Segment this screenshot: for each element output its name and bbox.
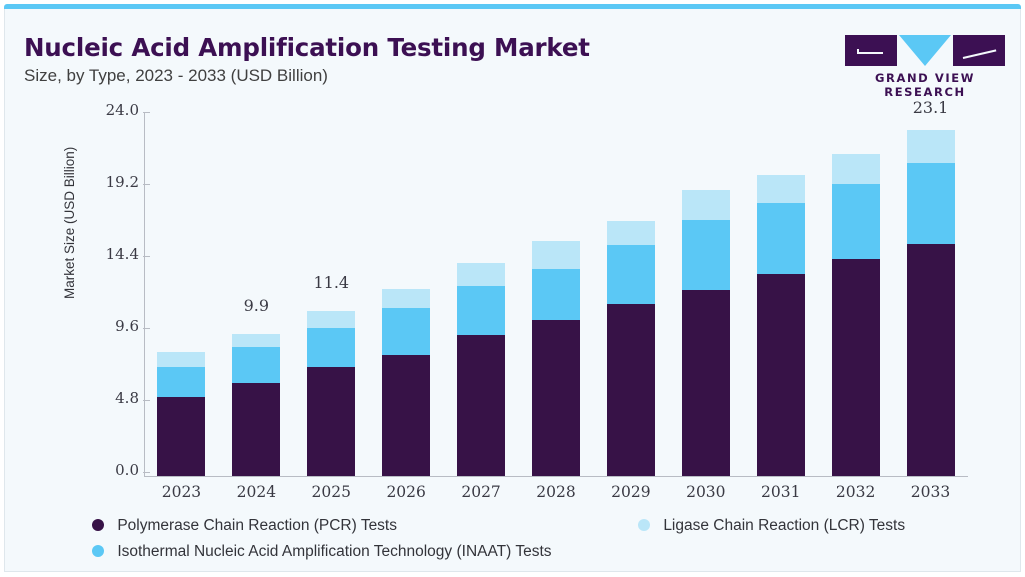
y-axis-tick-label: 4.8 bbox=[94, 389, 139, 407]
y-axis-tick-text: 9.6 bbox=[94, 317, 139, 335]
bar-segment-pcr[interactable] bbox=[907, 244, 955, 477]
bar-stack[interactable] bbox=[157, 116, 205, 476]
y-axis-title: Market Size (USD Billion) bbox=[62, 147, 77, 299]
y-axis-tick-label: 0.0 bbox=[94, 461, 139, 479]
bar-stack[interactable] bbox=[832, 116, 880, 476]
y-axis-tick-mark bbox=[143, 256, 150, 257]
bar-stack[interactable] bbox=[757, 116, 805, 476]
legend-item-pcr[interactable]: Polymerase Chain Reaction (PCR) Tests bbox=[92, 517, 397, 535]
x-axis-line bbox=[144, 476, 968, 477]
y-axis-tick-label: 9.6 bbox=[94, 317, 139, 335]
bar-segment-pcr[interactable] bbox=[382, 355, 430, 477]
bar-stack[interactable] bbox=[682, 116, 730, 476]
bar-segment-pcr[interactable] bbox=[832, 259, 880, 477]
bar-segment-pcr[interactable] bbox=[682, 290, 730, 476]
y-axis-tick-mark bbox=[143, 112, 150, 113]
y-axis-tick-text: 19.2 bbox=[94, 173, 139, 191]
bar-segment-lcr[interactable] bbox=[757, 175, 805, 204]
bar-segment-inaat[interactable] bbox=[607, 245, 655, 304]
legend-row-2: Isothermal Nucleic Acid Amplification Te… bbox=[92, 543, 992, 569]
legend-item-lcr[interactable]: Ligase Chain Reaction (LCR) Tests bbox=[638, 517, 905, 535]
y-axis-tick-label: 14.4 bbox=[94, 245, 139, 263]
legend-label-inaat: Isothermal Nucleic Acid Amplification Te… bbox=[117, 543, 551, 560]
legend-item-inaat[interactable]: Isothermal Nucleic Acid Amplification Te… bbox=[92, 543, 552, 561]
bar-segment-lcr[interactable] bbox=[232, 334, 280, 348]
bar-segment-inaat[interactable] bbox=[757, 203, 805, 274]
y-axis-line bbox=[144, 112, 145, 476]
y-axis-tick-label: 24.0 bbox=[94, 101, 139, 119]
bar-segment-lcr[interactable] bbox=[157, 352, 205, 367]
bar-segment-lcr[interactable] bbox=[532, 241, 580, 270]
bar-segment-pcr[interactable] bbox=[157, 397, 205, 477]
bar-segment-pcr[interactable] bbox=[607, 304, 655, 477]
y-axis-tick-text: 0.0 bbox=[94, 461, 139, 479]
bar-stack[interactable] bbox=[457, 116, 505, 476]
bar-segment-pcr[interactable] bbox=[757, 274, 805, 477]
bar-segment-inaat[interactable] bbox=[307, 328, 355, 367]
legend-swatch-lcr bbox=[638, 519, 650, 531]
legend-row-1: Polymerase Chain Reaction (PCR) Tests Li… bbox=[92, 517, 992, 543]
legend-swatch-inaat bbox=[92, 545, 104, 557]
y-axis-tick-text: 14.4 bbox=[94, 245, 139, 263]
bar-segment-inaat[interactable] bbox=[457, 286, 505, 336]
bar-value-label: 11.4 bbox=[286, 273, 376, 292]
bar-segment-lcr[interactable] bbox=[457, 263, 505, 286]
bar-segment-lcr[interactable] bbox=[382, 289, 430, 309]
bar-value-label: 9.9 bbox=[211, 296, 301, 315]
bar-segment-inaat[interactable] bbox=[907, 163, 955, 244]
bar-stack[interactable] bbox=[307, 116, 355, 476]
bar-segment-pcr[interactable] bbox=[307, 367, 355, 477]
bar-segment-inaat[interactable] bbox=[832, 184, 880, 259]
chart-panel: Nucleic Acid Amplification Testing Marke… bbox=[4, 4, 1021, 572]
y-axis-tick-label: 19.2 bbox=[94, 173, 139, 191]
bar-segment-pcr[interactable] bbox=[532, 320, 580, 476]
bar-stack[interactable] bbox=[907, 116, 955, 476]
bar-segment-pcr[interactable] bbox=[232, 383, 280, 476]
y-axis-tick-text: 24.0 bbox=[94, 101, 139, 119]
bar-stack[interactable] bbox=[532, 116, 580, 476]
legend-swatch-pcr bbox=[92, 519, 104, 531]
bar-segment-inaat[interactable] bbox=[532, 269, 580, 320]
y-axis-tick-mark bbox=[143, 472, 150, 473]
bar-chart-plot: Market Size (USD Billion) 0.04.89.614.41… bbox=[4, 9, 1021, 577]
bar-segment-lcr[interactable] bbox=[307, 311, 355, 328]
bar-segment-lcr[interactable] bbox=[832, 154, 880, 184]
y-axis-tick-mark bbox=[143, 328, 150, 329]
bar-value-label: 23.1 bbox=[886, 98, 976, 117]
bar-segment-inaat[interactable] bbox=[157, 367, 205, 397]
bar-stack[interactable] bbox=[607, 116, 655, 476]
bar-segment-lcr[interactable] bbox=[682, 190, 730, 220]
legend-label-pcr: Polymerase Chain Reaction (PCR) Tests bbox=[117, 517, 397, 534]
y-axis-tick-mark bbox=[143, 400, 150, 401]
legend-label-lcr: Ligase Chain Reaction (LCR) Tests bbox=[663, 517, 905, 534]
bar-segment-lcr[interactable] bbox=[907, 130, 955, 163]
y-axis-tick-mark bbox=[143, 184, 150, 185]
y-axis-tick-text: 4.8 bbox=[94, 389, 139, 407]
bar-segment-lcr[interactable] bbox=[607, 221, 655, 245]
chart-legend: Polymerase Chain Reaction (PCR) Tests Li… bbox=[92, 517, 992, 569]
bar-segment-inaat[interactable] bbox=[382, 308, 430, 355]
bar-segment-inaat[interactable] bbox=[682, 220, 730, 291]
bar-segment-pcr[interactable] bbox=[457, 335, 505, 476]
bar-segment-inaat[interactable] bbox=[232, 347, 280, 383]
bar-stack[interactable] bbox=[382, 116, 430, 476]
x-axis-tick-label: 2033 bbox=[886, 483, 976, 501]
